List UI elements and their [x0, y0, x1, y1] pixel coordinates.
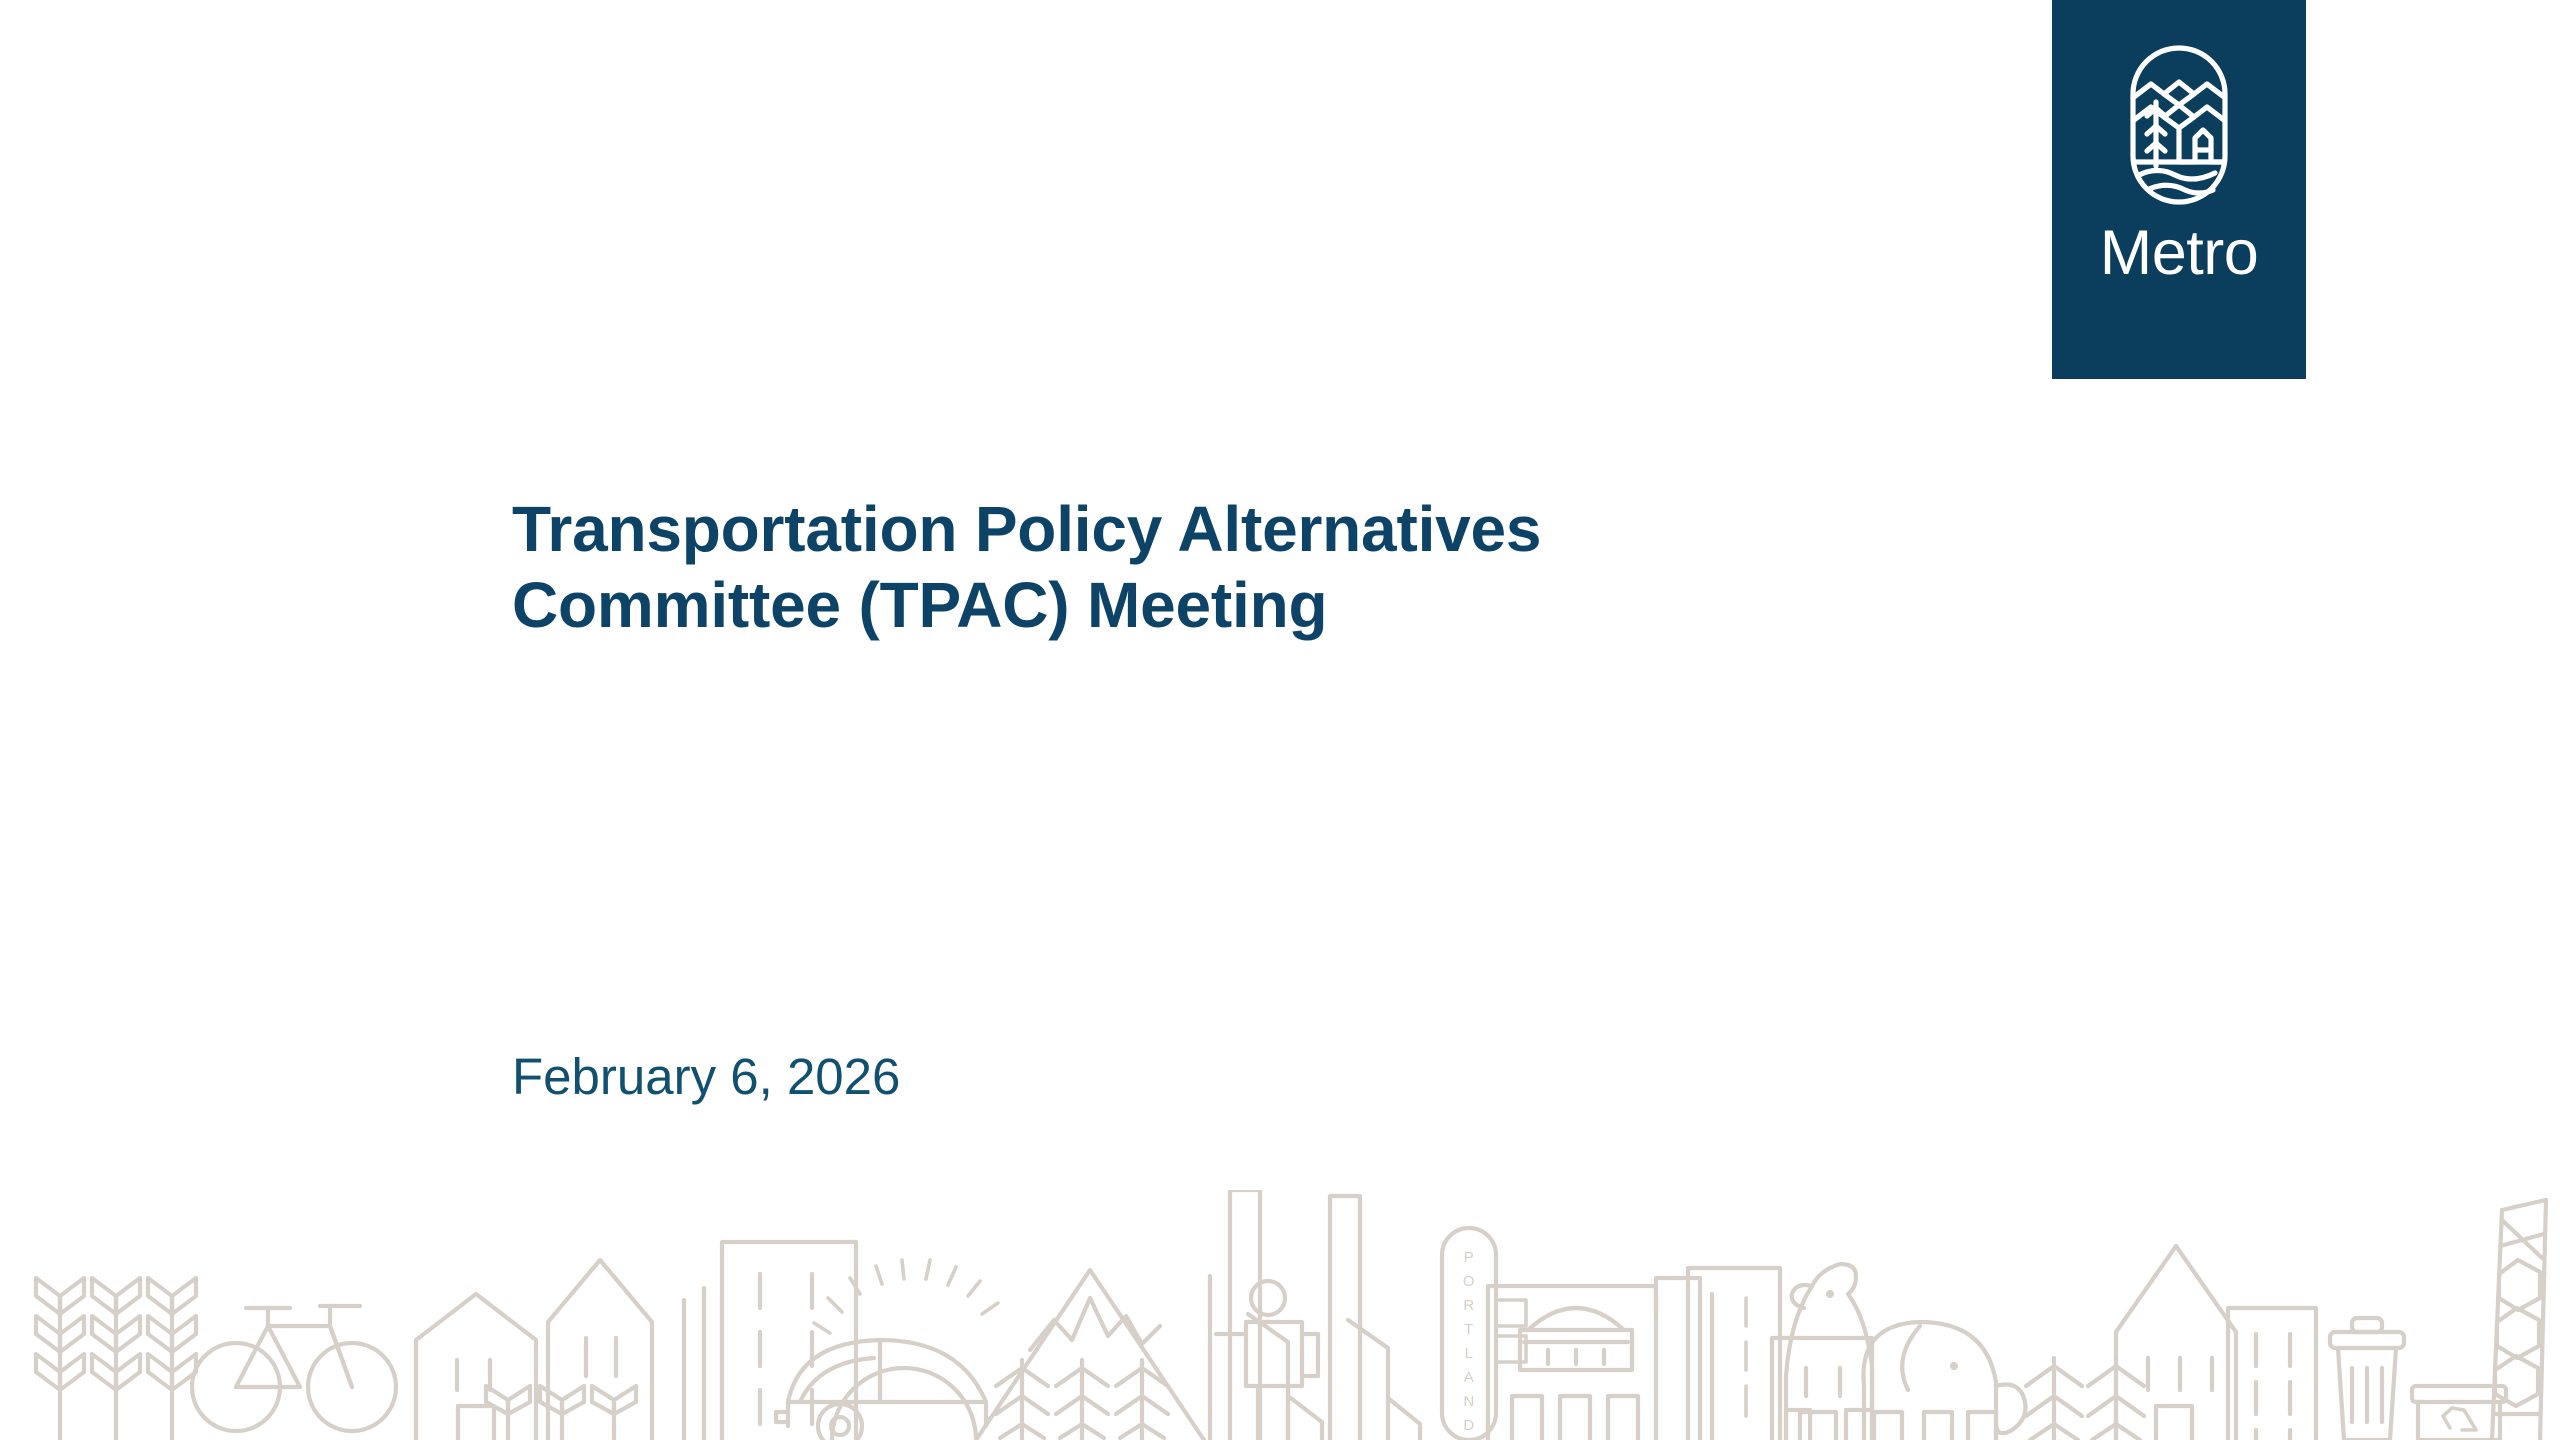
sign-letter: L	[1465, 1345, 1474, 1362]
civic-dome-building-icon	[1488, 1278, 1700, 1440]
wheat-stalk-icon	[148, 1278, 196, 1440]
house-icon	[416, 1294, 536, 1440]
pine-tree-icon	[2026, 1358, 2082, 1440]
skyscraper-icon	[1330, 1196, 1420, 1440]
slide-date: February 6, 2026	[512, 1046, 900, 1107]
metro-wordmark: Metro	[2100, 222, 2259, 285]
sign-letter: P	[1464, 1249, 1475, 1266]
office-building-icon	[2228, 1308, 2316, 1440]
page-title: Transportation Policy Alternatives Commi…	[512, 492, 1832, 643]
presentation-slide: Metro Transportation Policy Alternatives…	[0, 0, 2560, 1440]
skyline-illustration: P O R T L A N D	[0, 1190, 2560, 1440]
elephant-icon	[1863, 1322, 2025, 1440]
sign-letter: O	[1463, 1273, 1475, 1290]
wheat-stalk-icon	[92, 1278, 140, 1440]
seedling-icon	[592, 1386, 636, 1440]
page-title-line-1: Transportation Policy Alternatives	[512, 493, 1541, 565]
title-block: Transportation Policy Alternatives Commi…	[512, 492, 1832, 643]
sign-letter: D	[1463, 1417, 1474, 1434]
sun-icon	[814, 1260, 998, 1440]
metro-brand-banner: Metro	[2052, 0, 2306, 379]
sign-letter: N	[1463, 1393, 1474, 1410]
metro-arch-logo-icon	[2123, 42, 2235, 208]
trash-can-icon	[2330, 1318, 2404, 1440]
sign-letter: R	[1463, 1297, 1474, 1314]
pine-tree-icon	[1056, 1360, 1108, 1440]
apartment-building-icon	[684, 1288, 704, 1440]
wheat-stalk-icon	[36, 1278, 84, 1440]
page-title-line-2: Committee (TPAC) Meeting	[512, 569, 1327, 641]
bicycle-icon	[192, 1306, 396, 1431]
sign-letter: A	[1464, 1369, 1475, 1386]
sign-letter: T	[1464, 1321, 1474, 1338]
person-icon	[1210, 1276, 1318, 1440]
